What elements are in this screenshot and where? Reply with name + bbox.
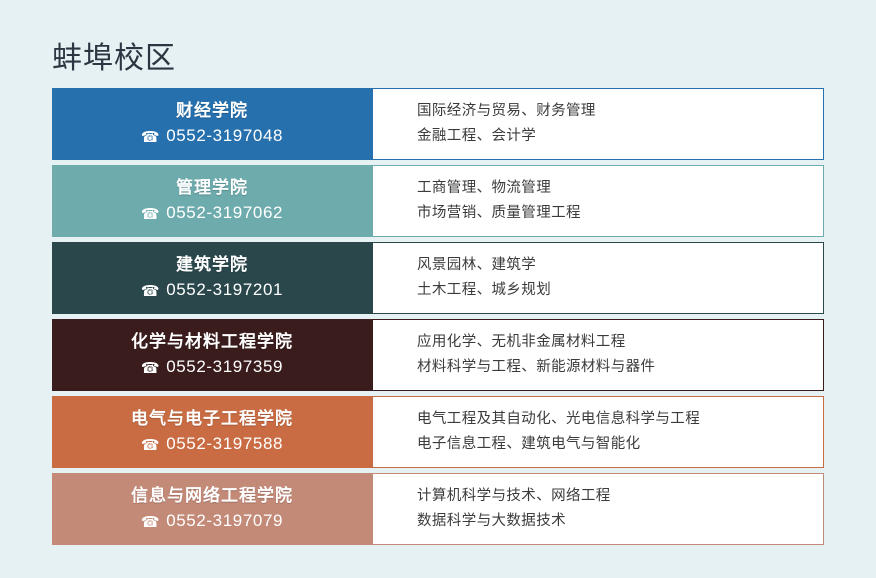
major-line: 国际经济与贸易、财务管理 [417, 99, 823, 124]
major-line: 风景园林、建筑学 [417, 253, 823, 278]
major-list: 计算机科学与技术、网络工程数据科学与大数据技术 [372, 473, 824, 545]
major-line: 电气工程及其自动化、光电信息科学与工程 [417, 407, 823, 432]
major-line: 土木工程、城乡规划 [417, 278, 823, 303]
department-phone[interactable]: ☎0552-3197359 [141, 354, 283, 380]
major-list: 应用化学、无机非金属材料工程材料科学与工程、新能源材料与器件 [372, 319, 824, 391]
department-row[interactable]: 信息与网络工程学院☎0552-3197079计算机科学与技术、网络工程数据科学与… [52, 473, 824, 545]
department-phone-number: 0552-3197079 [166, 508, 283, 534]
department-table: 财经学院☎0552-3197048国际经济与贸易、财务管理金融工程、会计学管理学… [52, 88, 824, 545]
department-row[interactable]: 建筑学院☎0552-3197201风景园林、建筑学土木工程、城乡规划 [52, 242, 824, 314]
department-header: 建筑学院☎0552-3197201 [52, 242, 372, 314]
major-list: 电气工程及其自动化、光电信息科学与工程电子信息工程、建筑电气与智能化 [372, 396, 824, 468]
major-list: 工商管理、物流管理市场营销、质量管理工程 [372, 165, 824, 237]
major-line: 市场营销、质量管理工程 [417, 201, 823, 226]
major-line: 材料科学与工程、新能源材料与器件 [417, 355, 823, 380]
department-header: 电气与电子工程学院☎0552-3197588 [52, 396, 372, 468]
department-name: 电气与电子工程学院 [131, 407, 293, 431]
department-phone[interactable]: ☎0552-3197048 [141, 123, 283, 149]
major-line: 计算机科学与技术、网络工程 [417, 484, 823, 509]
major-list: 风景园林、建筑学土木工程、城乡规划 [372, 242, 824, 314]
telephone-icon: ☎ [141, 438, 160, 453]
department-row[interactable]: 电气与电子工程学院☎0552-3197588电气工程及其自动化、光电信息科学与工… [52, 396, 824, 468]
department-name: 建筑学院 [176, 253, 248, 277]
department-name: 化学与材料工程学院 [131, 330, 293, 354]
department-phone[interactable]: ☎0552-3197201 [141, 277, 283, 303]
department-phone[interactable]: ☎0552-3197062 [141, 200, 283, 226]
department-phone-number: 0552-3197359 [166, 354, 283, 380]
telephone-icon: ☎ [141, 515, 160, 530]
department-phone-number: 0552-3197201 [166, 277, 283, 303]
major-line: 金融工程、会计学 [417, 124, 823, 149]
department-phone[interactable]: ☎0552-3197079 [141, 508, 283, 534]
department-name: 财经学院 [176, 99, 248, 123]
department-name: 管理学院 [176, 176, 248, 200]
department-row[interactable]: 化学与材料工程学院☎0552-3197359应用化学、无机非金属材料工程材料科学… [52, 319, 824, 391]
department-row[interactable]: 财经学院☎0552-3197048国际经济与贸易、财务管理金融工程、会计学 [52, 88, 824, 160]
telephone-icon: ☎ [141, 284, 160, 299]
telephone-icon: ☎ [141, 130, 160, 145]
major-line: 应用化学、无机非金属材料工程 [417, 330, 823, 355]
department-phone-number: 0552-3197048 [166, 123, 283, 149]
major-line: 电子信息工程、建筑电气与智能化 [417, 432, 823, 457]
department-header: 财经学院☎0552-3197048 [52, 88, 372, 160]
telephone-icon: ☎ [141, 207, 160, 222]
major-line: 数据科学与大数据技术 [417, 509, 823, 534]
page-title: 蚌埠校区 [52, 38, 176, 80]
major-line: 工商管理、物流管理 [417, 176, 823, 201]
telephone-icon: ☎ [141, 361, 160, 376]
department-header: 管理学院☎0552-3197062 [52, 165, 372, 237]
department-header: 化学与材料工程学院☎0552-3197359 [52, 319, 372, 391]
department-phone-number: 0552-3197588 [166, 431, 283, 457]
department-name: 信息与网络工程学院 [131, 484, 293, 508]
department-row[interactable]: 管理学院☎0552-3197062工商管理、物流管理市场营销、质量管理工程 [52, 165, 824, 237]
department-phone-number: 0552-3197062 [166, 200, 283, 226]
major-list: 国际经济与贸易、财务管理金融工程、会计学 [372, 88, 824, 160]
department-phone[interactable]: ☎0552-3197588 [141, 431, 283, 457]
department-header: 信息与网络工程学院☎0552-3197079 [52, 473, 372, 545]
campus-directory-page: 蚌埠校区 财经学院☎0552-3197048国际经济与贸易、财务管理金融工程、会… [0, 0, 876, 578]
